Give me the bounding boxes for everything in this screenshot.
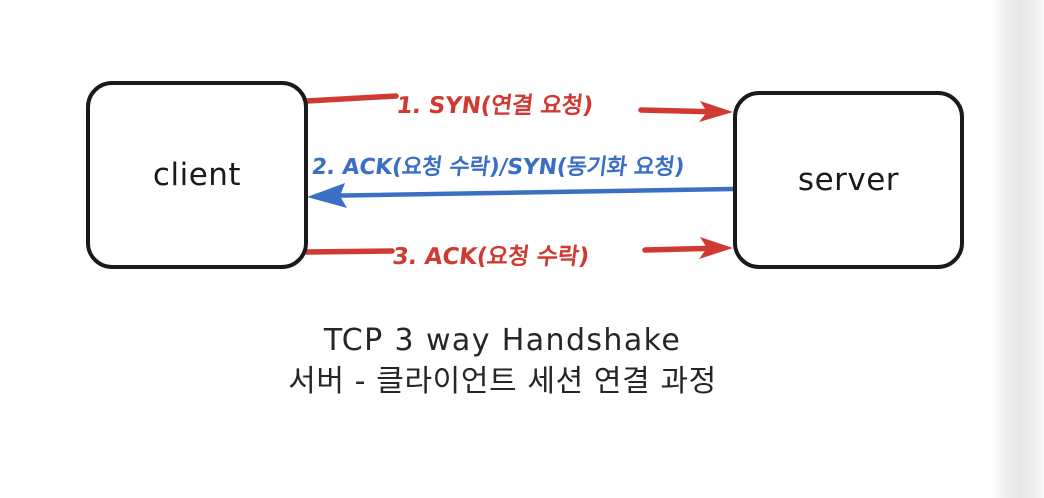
node-server-label: server [798, 162, 899, 198]
arrow-label-syn: 1. SYN(연결 요청) [395, 86, 595, 120]
diagram-caption: TCP 3 way Handshake 서버 - 클라이언트 세션 연결 과정 [0, 322, 1005, 401]
caption-subtitle: 서버 - 클라이언트 세션 연결 과정 [0, 362, 1005, 401]
diagram-canvas: client server 1. SYN(연결 요청) 2. ACK(요청 수락… [0, 0, 1044, 498]
node-client[interactable]: client [86, 81, 308, 269]
arrow-ack-syn [307, 183, 733, 208]
caption-title: TCP 3 way Handshake [0, 322, 1005, 360]
node-server[interactable]: server [733, 91, 964, 269]
arrow-label-ack: 3. ACK(요청 수락) [391, 237, 592, 271]
node-client-label: client [153, 157, 241, 193]
arrow-label-ack-syn: 2. ACK(요청 수락)/SYN(동기화 요청) [310, 149, 686, 181]
